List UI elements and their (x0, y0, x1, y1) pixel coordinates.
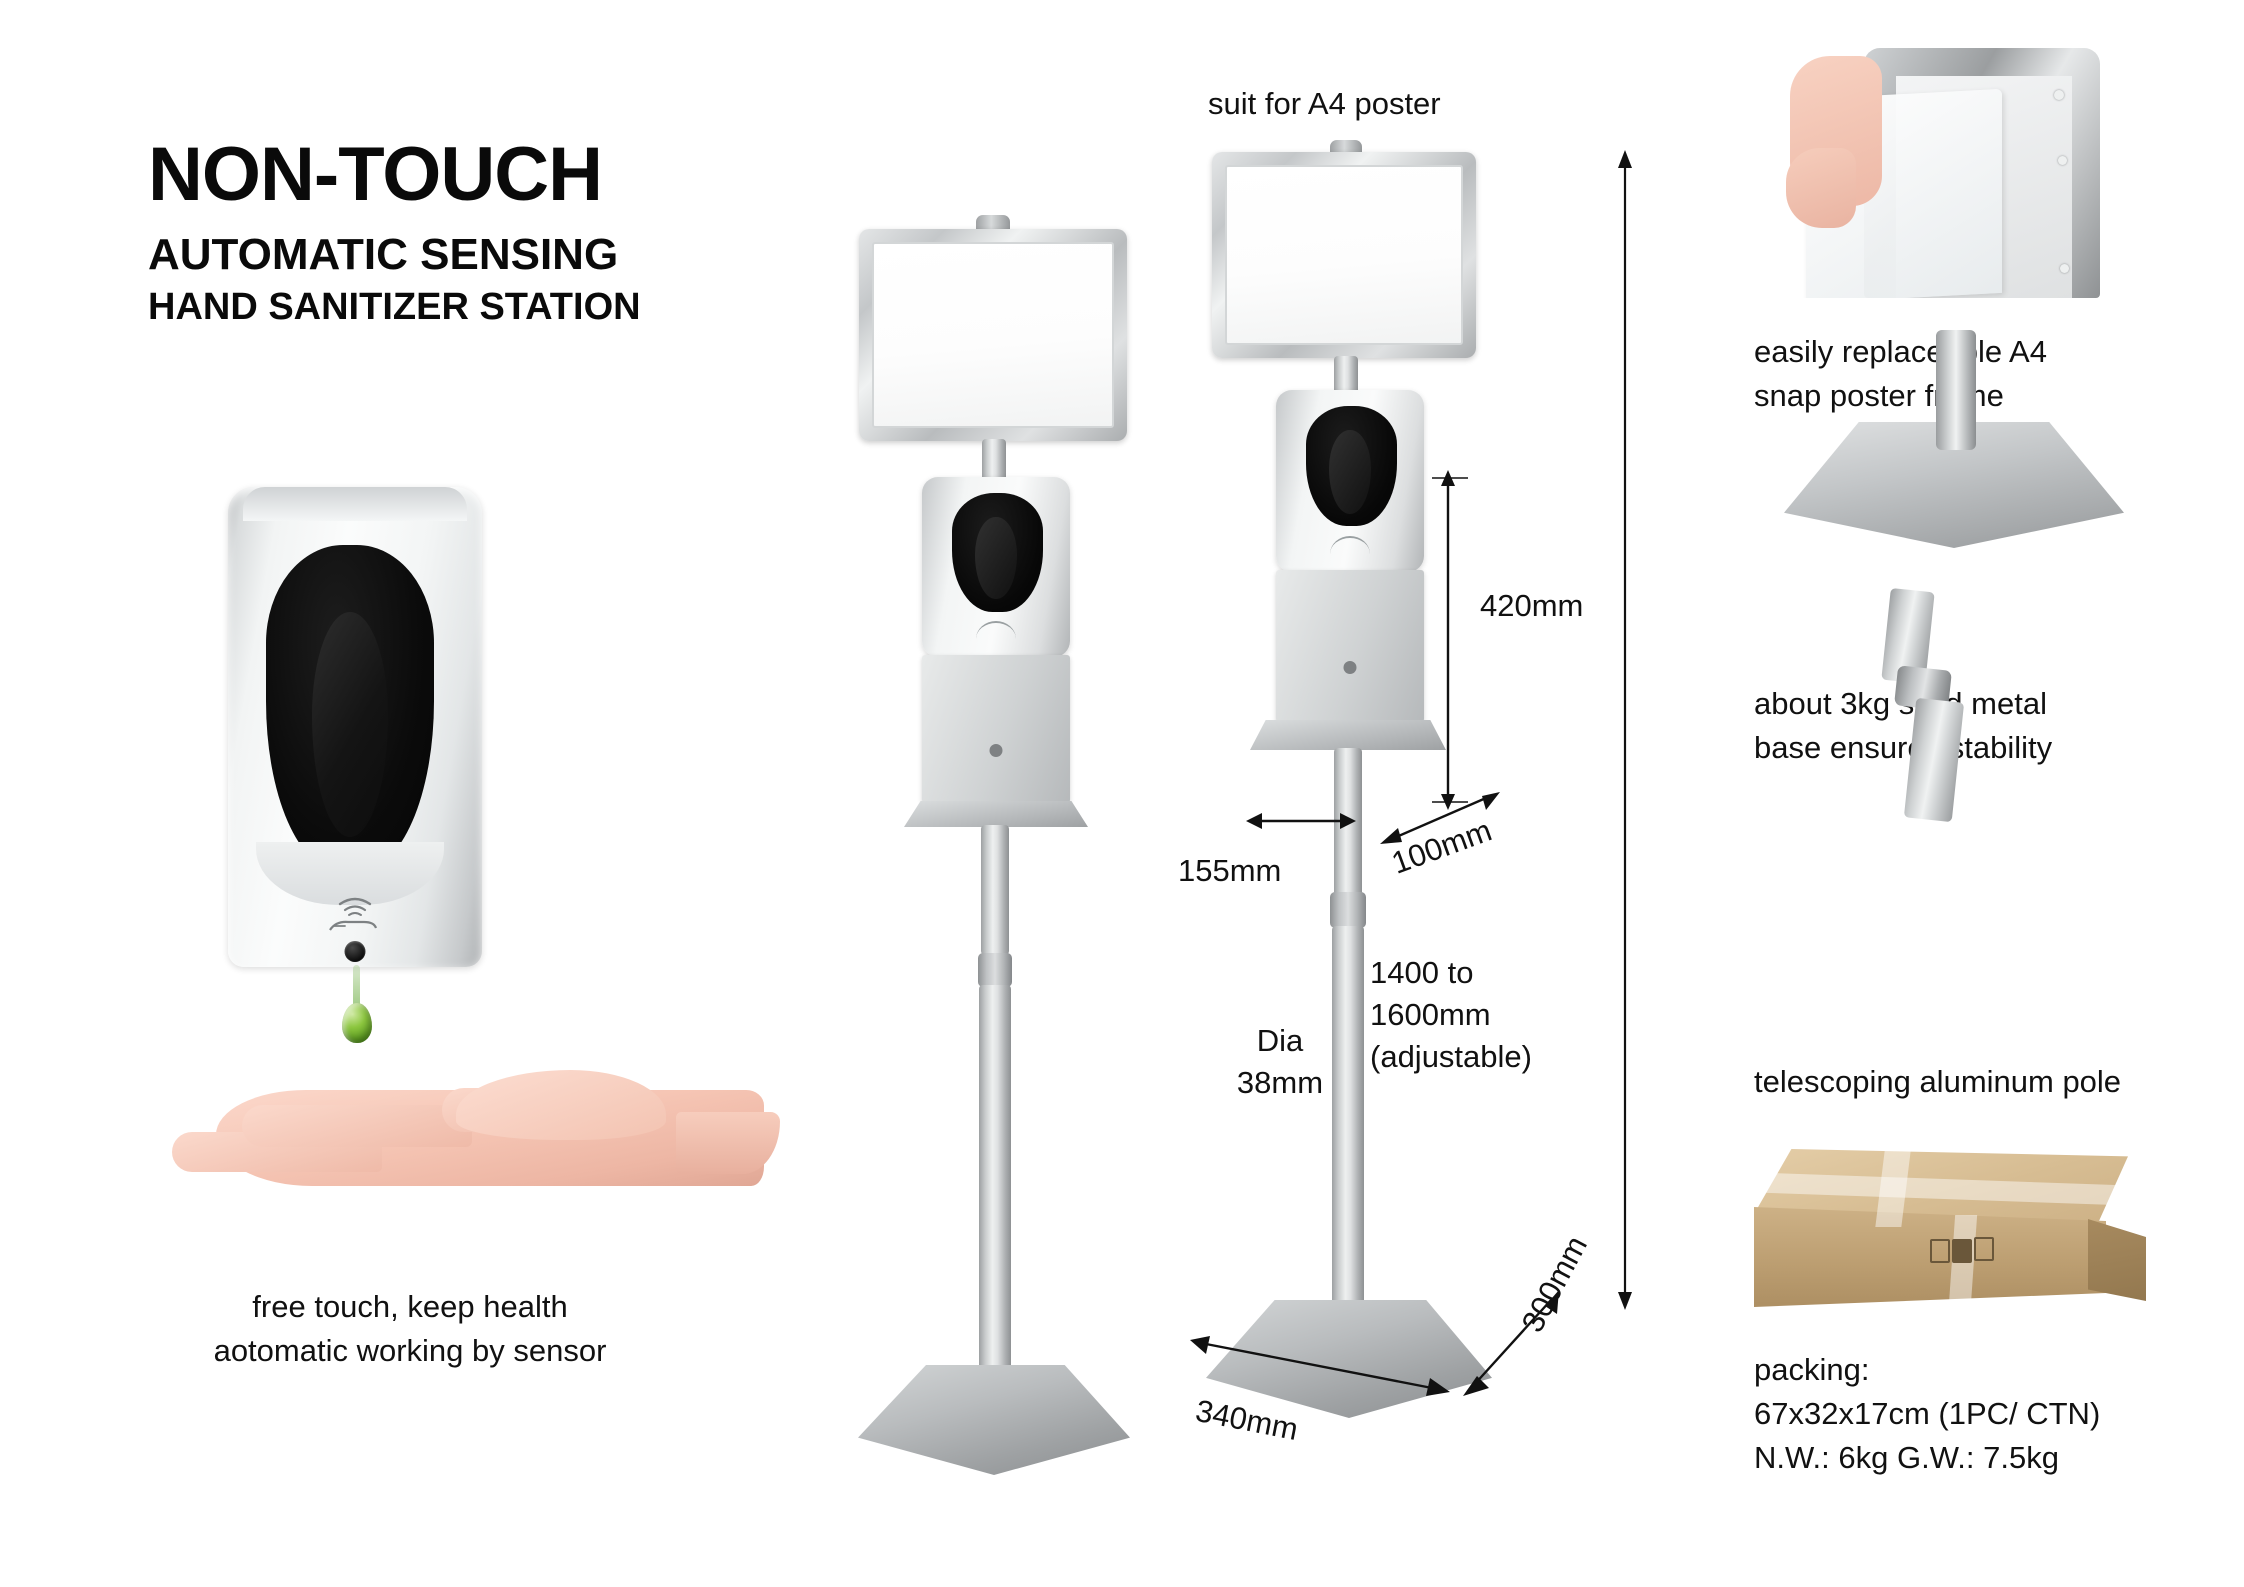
snap-frame-rivet (2058, 156, 2067, 165)
dimension-arrow-340mm (1190, 1330, 1450, 1400)
overall-height-line-1: 1400 to (1370, 952, 1600, 994)
mount-plate-screw-2 (1344, 661, 1357, 674)
stand-photo-full (830, 215, 1160, 1475)
metal-base-pole (1936, 330, 1976, 450)
pole-telescoping-collar (978, 953, 1012, 987)
wall-dispenser-image (228, 487, 482, 967)
pole-telescoping-collar-2 (1330, 892, 1366, 928)
carton-umbrella-icon (1952, 1239, 1972, 1263)
a4-poster-sheet (872, 242, 1114, 428)
packing-line-2: 67x32x17cm (1PC/ CTN) (1754, 1392, 2224, 1436)
sanitizer-drop (340, 965, 374, 1051)
dimension-label-pole-diameter: Dia 38mm (1215, 1020, 1345, 1104)
headline-block: NON-TOUCH AUTOMATIC SENSING HAND SANITIZ… (148, 136, 908, 328)
feature-image-metal-base (1770, 330, 2140, 560)
pole-diameter-value: 38mm (1215, 1062, 1345, 1104)
left-caption-line-1: free touch, keep health (130, 1285, 690, 1329)
stand-sensor-icon (976, 621, 1016, 639)
packing-line-3: N.W.: 6kg G.W.: 7.5kg (1754, 1436, 2224, 1480)
drop-bead (342, 1003, 372, 1043)
hand-thumb-mound (456, 1070, 666, 1140)
pole-lower (979, 985, 1011, 1383)
pole-lower-2 (1332, 926, 1364, 1322)
pole-segment-lower (1904, 698, 1964, 822)
page-subtitle-1: AUTOMATIC SENSING (148, 232, 908, 278)
stand-sensor-icon-2 (1330, 536, 1370, 554)
dispenser-indicator-led (345, 941, 366, 962)
a4-poster-sheet-2 (1225, 165, 1463, 345)
carton-side-face (2088, 1219, 2146, 1301)
overall-height-line-2: 1600mm (1370, 994, 1600, 1036)
dimension-label-420mm: 420mm (1480, 585, 1583, 627)
dimension-arrow-420mm (1418, 470, 1478, 810)
stand-dispenser-nozzle (975, 517, 1016, 600)
stand-dispenser (922, 477, 1070, 657)
feature-text-telescoping-pole: telescoping aluminum pole (1754, 1060, 2234, 1104)
hand-finger (242, 1105, 472, 1147)
pole-diameter-label: Dia (1215, 1020, 1345, 1062)
page-title: NON-TOUCH (148, 136, 908, 214)
dimension-arrow-total-height (1600, 150, 1650, 1310)
snap-frame-rivet (2054, 90, 2064, 100)
packing-info: packing: 67x32x17cm (1PC/ CTN) N.W.: 6kg… (1754, 1348, 2224, 1480)
wave-hand-sensor-icon (318, 890, 392, 934)
feature-telescoping-pole-line-1: telescoping aluminum pole (1754, 1060, 2234, 1104)
stand-base-plate (858, 1365, 1130, 1475)
dimension-label-155mm: 155mm (1178, 850, 1281, 892)
a4-poster-frame (859, 229, 1127, 441)
snap-frame-rivet (2060, 264, 2069, 273)
pole-upper (981, 825, 1009, 955)
poster-label: suit for A4 poster (1208, 82, 1441, 126)
left-caption: free touch, keep health aotomatic workin… (130, 1285, 690, 1373)
carton-fragile-icon (1930, 1239, 1950, 1263)
dispenser-mount-plate-2 (1276, 570, 1424, 722)
a4-poster-frame-2 (1212, 152, 1476, 358)
page-subtitle-2: HAND SANITIZER STATION (148, 288, 908, 328)
overall-height-line-3: (adjustable) (1370, 1036, 1600, 1078)
dimension-label-300mm: 300mm (1512, 1229, 1598, 1340)
stand-dispenser-nozzle-2 (1329, 430, 1370, 514)
carton-thisway-up-icon (1974, 1237, 1994, 1261)
feature-image-snap-frame (1768, 28, 2128, 298)
thumb-peeling-sheet (1786, 148, 1856, 228)
left-caption-line-2: aotomatic working by sensor (130, 1329, 690, 1373)
dimension-label-overall-height: 1400 to 1600mm (adjustable) (1370, 952, 1600, 1078)
dimension-arrow-155mm (1246, 808, 1356, 834)
dispenser-top-bevel (243, 487, 467, 521)
feature-image-telescoping-pole (1800, 590, 2100, 820)
hand-wrist (676, 1112, 780, 1174)
mount-plate-screw (990, 744, 1003, 757)
packing-carton-image (1740, 1145, 2160, 1335)
drip-tray-2 (1250, 720, 1446, 750)
stand-dispenser-2 (1276, 390, 1424, 572)
open-hand-image (156, 1060, 766, 1210)
packing-line-1: packing: (1754, 1348, 2224, 1392)
dispenser-mount-plate (922, 655, 1070, 803)
drip-tray (904, 801, 1088, 827)
